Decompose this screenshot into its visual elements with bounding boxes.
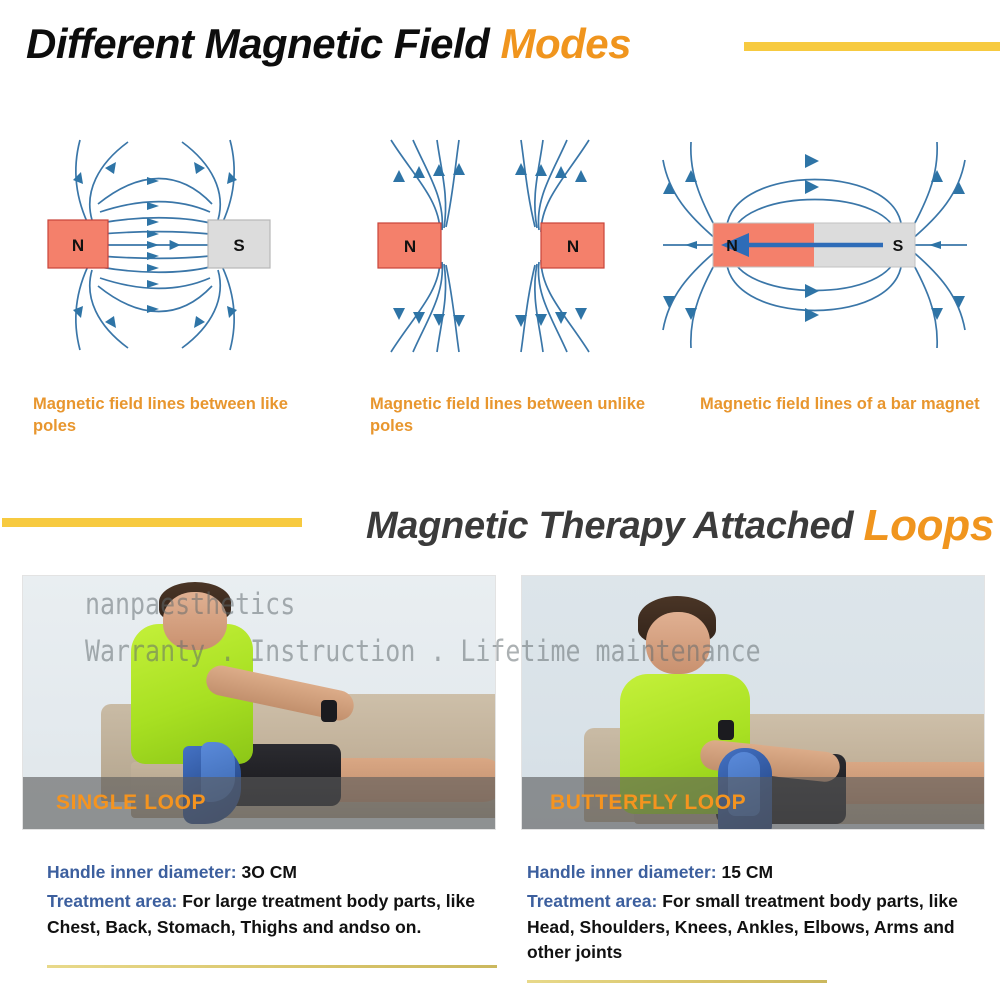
page-title-main: Different Magnetic Field xyxy=(26,23,500,65)
spec-butterfly-loop: Handle inner diameter: 15 CM Treatment a… xyxy=(527,860,987,970)
diagram-unlike-poles: N N xyxy=(345,120,675,370)
photo-banner-butterfly-loop: BUTTERFLY LOOP xyxy=(522,777,984,829)
model-head xyxy=(163,592,227,650)
spec-diameter-label: Handle inner diameter: xyxy=(527,862,717,882)
spec-diameter-value: 15 CM xyxy=(717,862,773,882)
svg-text:S: S xyxy=(233,236,244,255)
caption-like-poles: Magnetic field lines between like poles xyxy=(33,393,333,438)
spec-diameter-line: Handle inner diameter: 3O CM xyxy=(47,860,517,885)
section-title-loops: Magnetic Therapy Attached Loops xyxy=(366,498,994,554)
section-title-accent: Loops xyxy=(864,504,994,548)
spec-diameter-label: Handle inner diameter: xyxy=(47,862,237,882)
page-title-magnetic-field-modes: Different Magnetic Field Modes xyxy=(26,18,786,70)
model-head xyxy=(646,612,710,674)
infographic-page: Different Magnetic Field Modes xyxy=(0,0,1000,1000)
spec-area-line: Treatment area: For small treatment body… xyxy=(527,889,987,965)
spec-area-label: Treatment area: xyxy=(527,891,657,911)
photo-single-loop: SINGLE LOOP xyxy=(22,575,496,830)
svg-text:N: N xyxy=(404,237,416,256)
svg-text:N: N xyxy=(72,236,84,255)
spec-row: Handle inner diameter: 3O CM Treatment a… xyxy=(0,860,1000,1000)
photo-banner-label: BUTTERFLY LOOP xyxy=(522,791,746,815)
page-title-accent: Modes xyxy=(500,23,631,65)
photo-banner-single-loop: SINGLE LOOP xyxy=(23,777,495,829)
photo-butterfly-loop: BUTTERFLY LOOP xyxy=(521,575,985,830)
spec-area-line: Treatment area: For large treatment body… xyxy=(47,889,517,940)
svg-text:N: N xyxy=(567,237,579,256)
title-rule-left xyxy=(2,518,302,527)
model-watch xyxy=(321,700,337,722)
diagram-bar-magnet: N S xyxy=(655,120,985,370)
diagram-like-poles: N S xyxy=(10,120,340,370)
spec-underline-left xyxy=(47,965,497,968)
spec-diameter-value: 3O CM xyxy=(237,862,297,882)
spec-underline-right xyxy=(527,980,827,983)
spec-diameter-line: Handle inner diameter: 15 CM xyxy=(527,860,987,885)
title-rule-right xyxy=(744,42,1000,51)
svg-text:N: N xyxy=(726,238,738,255)
section-title-main: Magnetic Therapy Attached xyxy=(366,507,864,545)
spec-area-label: Treatment area: xyxy=(47,891,177,911)
section-title-loops-wrap: Magnetic Therapy Attached Loops xyxy=(0,498,1000,554)
photo-banner-label: SINGLE LOOP xyxy=(23,791,206,815)
svg-text:S: S xyxy=(893,238,904,255)
model-watch xyxy=(718,720,734,740)
caption-unlike-poles: Magnetic field lines between unlike pole… xyxy=(370,393,670,438)
photo-row: SINGLE LOOP BUTTERFLY LOOP xyxy=(0,575,1000,830)
caption-bar-magnet: Magnetic field lines of a bar magnet xyxy=(700,393,1000,415)
spec-single-loop: Handle inner diameter: 3O CM Treatment a… xyxy=(47,860,517,944)
